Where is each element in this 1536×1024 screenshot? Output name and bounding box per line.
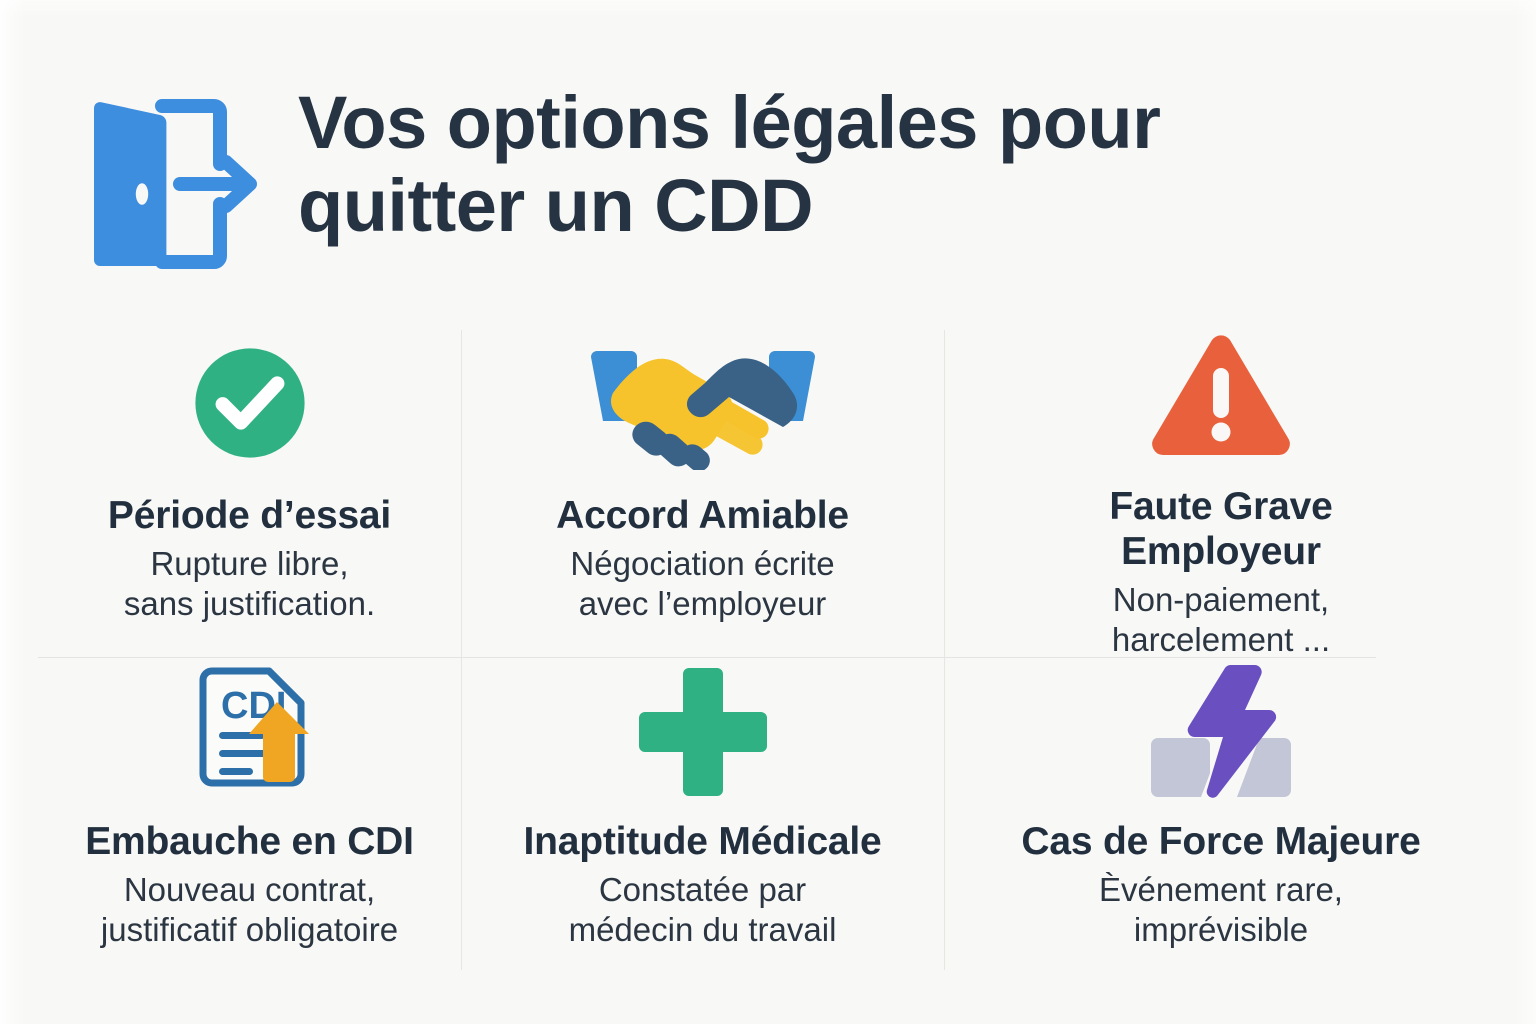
medical-cross-icon	[637, 657, 769, 807]
card-description: Èvénement rare, imprévisible	[1099, 870, 1343, 949]
card-title: Faute Grave Employeur	[1109, 484, 1332, 574]
card-description: Constatée par médecin du travail	[569, 870, 837, 949]
card-inaptitude-medicale[interactable]: Inaptitude Médicale Constatée par médeci…	[461, 657, 944, 990]
card-title: Cas de Force Majeure	[1021, 819, 1420, 864]
infographic-canvas: Vos options légales pour quitter un CDD …	[0, 0, 1536, 1024]
card-faute-grave-employeur[interactable]: Faute Grave Employeur Non-paiement, harc…	[944, 330, 1498, 657]
card-title: Période d’essai	[108, 493, 391, 538]
check-circle-icon	[185, 330, 315, 475]
exit-door-arrow-icon	[70, 84, 270, 284]
lightning-bolt-icon	[1141, 657, 1301, 807]
card-description: Nouveau contrat, justificatif obligatoir…	[101, 870, 398, 949]
card-cas-force-majeure[interactable]: Cas de Force Majeure Èvénement rare, imp…	[944, 657, 1498, 990]
card-description: Non-paiement, harcelement ...	[1112, 580, 1330, 659]
warning-triangle-icon	[1146, 330, 1296, 466]
card-title: Accord Amiable	[556, 493, 849, 538]
card-title: Inaptitude Médicale	[523, 819, 881, 864]
header: Vos options légales pour quitter un CDD	[70, 78, 1450, 284]
handshake-icon	[573, 330, 833, 475]
card-accord-amiable[interactable]: Accord Amiable Négociation écrite avec l…	[461, 330, 944, 657]
card-periode-essai[interactable]: Période d’essai Rupture libre, sans just…	[38, 330, 461, 657]
options-grid: Période d’essai Rupture libre, sans just…	[38, 330, 1498, 990]
card-description: Rupture libre, sans justification.	[124, 544, 375, 623]
cdi-document-upgrade-icon: CDI	[177, 657, 322, 807]
card-title: Embauche en CDI	[85, 819, 414, 864]
page-title: Vos options légales pour quitter un CDD	[298, 78, 1160, 248]
card-description: Négociation écrite avec l’employeur	[570, 544, 834, 623]
card-embauche-cdi[interactable]: CDI Embauche en CDI Nouveau contrat, jus…	[38, 657, 461, 990]
